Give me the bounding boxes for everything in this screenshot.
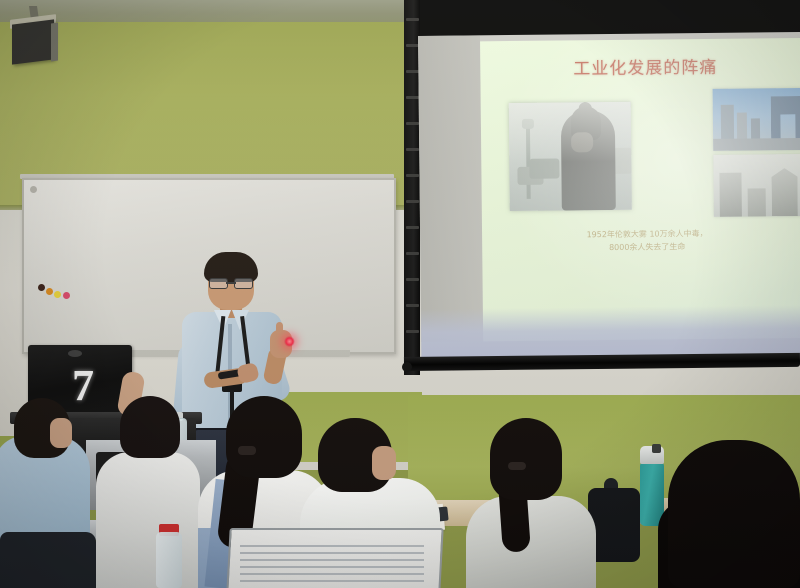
whiteboard-magnet[interactable] bbox=[46, 288, 53, 295]
projection-screen-notch bbox=[406, 304, 419, 307]
hair-tie bbox=[238, 446, 256, 455]
london-smog-policeman-image bbox=[509, 102, 632, 211]
projection-screen-notch bbox=[406, 174, 419, 177]
student-head bbox=[120, 396, 180, 458]
projection-screen-notch bbox=[406, 148, 419, 151]
slide-caption-line1: 1952年伦敦大雾 10万余人中毒， bbox=[586, 229, 707, 239]
slide-caption: 1952年伦敦大雾 10万余人中毒， 8000余人失去了生命 bbox=[482, 226, 800, 255]
projection-screen-notch bbox=[406, 278, 419, 281]
whiteboard-magnet[interactable] bbox=[63, 292, 70, 299]
slide-caption-line2: 8000余人失去了生命 bbox=[482, 239, 800, 255]
projection-screen-notch bbox=[406, 96, 419, 99]
smog-overlay bbox=[713, 154, 800, 217]
whiteboard-corner-screw bbox=[30, 186, 37, 193]
speaker-grille bbox=[12, 19, 54, 64]
water-bottle-front[interactable] bbox=[156, 532, 182, 588]
student-head bbox=[668, 440, 800, 588]
hair-tie bbox=[508, 462, 526, 470]
lecturer-index-finger bbox=[276, 322, 283, 338]
presentation-slide: 工业化发展的阵痛 bbox=[480, 38, 800, 341]
student-head bbox=[490, 418, 562, 500]
city-skyline-base bbox=[713, 138, 800, 151]
student-face bbox=[50, 418, 72, 448]
front-left-bag[interactable] bbox=[0, 532, 96, 588]
projection-screen-notch bbox=[406, 70, 419, 73]
projection-screen-surface: 工业化发展的阵痛 bbox=[418, 32, 800, 361]
projection-screen-notch bbox=[406, 226, 419, 229]
whiteboard-magnet[interactable] bbox=[54, 291, 61, 298]
projection-screen-notch bbox=[406, 200, 419, 203]
fog-overlay bbox=[509, 102, 632, 211]
eyeglasses-bridge bbox=[226, 282, 236, 284]
laser-pointer-dot bbox=[284, 336, 295, 347]
slide-title: 工业化发展的阵痛 bbox=[480, 52, 800, 80]
projection-screen-weight-knob bbox=[402, 362, 412, 372]
projection-screen-notch bbox=[406, 330, 419, 333]
monitor-display-number: 7 bbox=[72, 364, 94, 408]
speaker-side-panel bbox=[51, 23, 58, 62]
student-torso bbox=[96, 452, 200, 588]
water-bottle-clip bbox=[652, 444, 661, 453]
projection-screen-notch bbox=[406, 122, 419, 125]
laptop-screen-content bbox=[240, 540, 424, 584]
screen-shadow-band bbox=[418, 35, 483, 342]
classroom-scene: 工业化发展的阵痛 bbox=[0, 0, 800, 588]
student-torso bbox=[466, 496, 596, 588]
monitor-brand-logo bbox=[68, 350, 82, 357]
student-face bbox=[372, 446, 396, 480]
city-clear-sky-image bbox=[713, 88, 800, 151]
projection-screen-notch bbox=[406, 44, 419, 47]
student-head bbox=[226, 396, 302, 478]
city-smog-image bbox=[713, 154, 800, 217]
whiteboard-magnet[interactable] bbox=[38, 284, 45, 291]
projection-screen-notch bbox=[406, 18, 419, 21]
projection-screen-notch bbox=[406, 252, 419, 255]
